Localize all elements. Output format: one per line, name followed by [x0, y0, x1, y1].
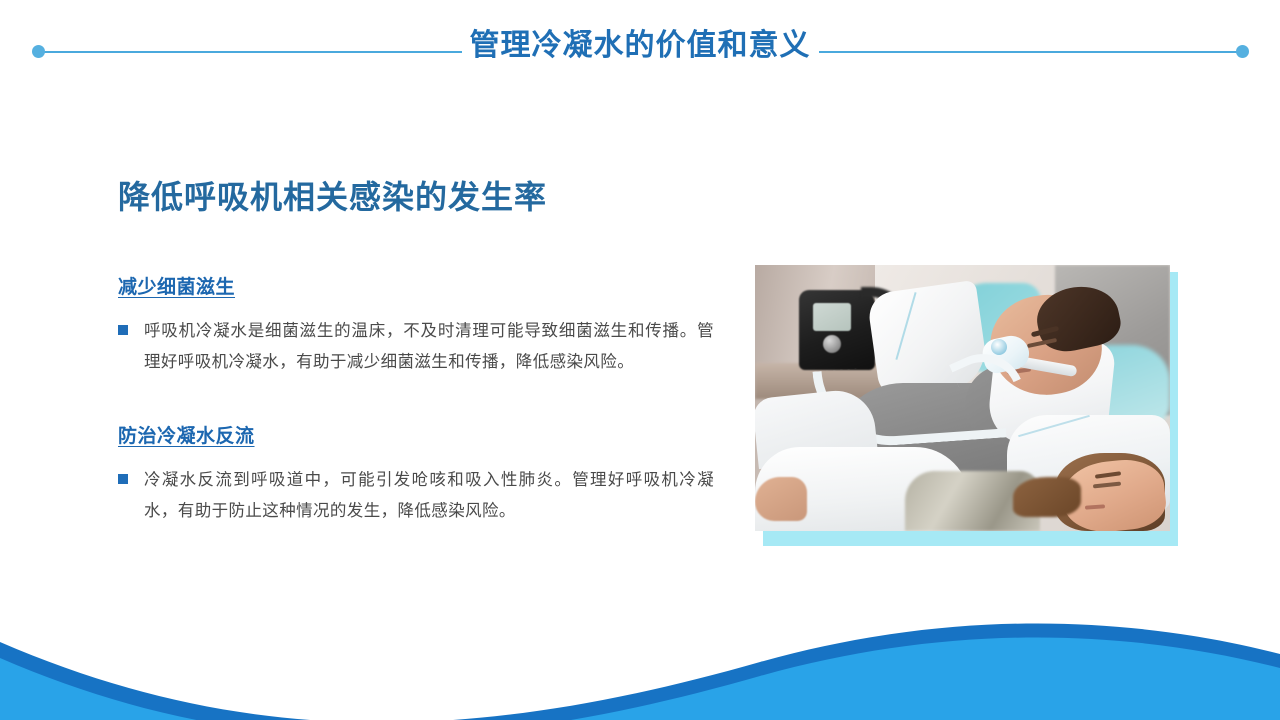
square-bullet-icon [118, 474, 128, 484]
bottom-wave-decoration [0, 610, 1280, 720]
section-spacer [118, 377, 718, 421]
slide-title: 管理冷凝水的价值和意义 [0, 26, 1280, 66]
photo-cpap-screen [813, 303, 851, 331]
subheading-2: 防治冷凝水反流 [118, 421, 255, 448]
photo-cpap-sleeping-couple [755, 265, 1170, 531]
square-bullet-icon [118, 325, 128, 335]
photo-cpap-knob [823, 335, 841, 353]
bullet-text-1: 呼吸机冷凝水是细菌滋生的温床，不及时清理可能导致细菌滋生和传播。管理好呼吸机冷凝… [144, 315, 714, 377]
subheading-2-wrap: 防治冷凝水反流 [118, 421, 718, 458]
content-section-1: 减少细菌滋生 呼吸机冷凝水是细菌滋生的温床，不及时清理可能导致细菌滋生和传播。管… [118, 272, 718, 377]
subheading-1: 减少细菌滋生 [118, 272, 235, 299]
slide-header: 管理冷凝水的价值和意义 [0, 0, 1280, 100]
bullet-text-2: 冷凝水反流到呼吸道中，可能引发呛咳和吸入性肺炎。管理好呼吸机冷凝水，有助于防止这… [144, 464, 714, 526]
photo-woman-hair-strand [1013, 477, 1081, 517]
slide-title-text: 管理冷凝水的价值和意义 [462, 26, 819, 66]
list-item: 冷凝水反流到呼吸道中，可能引发呛咳和吸入性肺炎。管理好呼吸机冷凝水，有助于防止这… [118, 464, 718, 526]
content-section-2: 防治冷凝水反流 冷凝水反流到呼吸道中，可能引发呛咳和吸入性肺炎。管理好呼吸机冷凝… [118, 421, 718, 526]
page-title: 降低呼吸机相关感染的发生率 [118, 172, 547, 218]
content-column: 减少细菌滋生 呼吸机冷凝水是细菌滋生的温床，不及时清理可能导致细菌滋生和传播。管… [118, 272, 718, 526]
list-item: 呼吸机冷凝水是细菌滋生的温床，不及时清理可能导致细菌滋生和传播。管理好呼吸机冷凝… [118, 315, 718, 377]
photo-mask-connector [991, 339, 1007, 355]
subheading-1-wrap: 减少细菌滋生 [118, 272, 718, 309]
photo-man-arm [755, 477, 807, 521]
